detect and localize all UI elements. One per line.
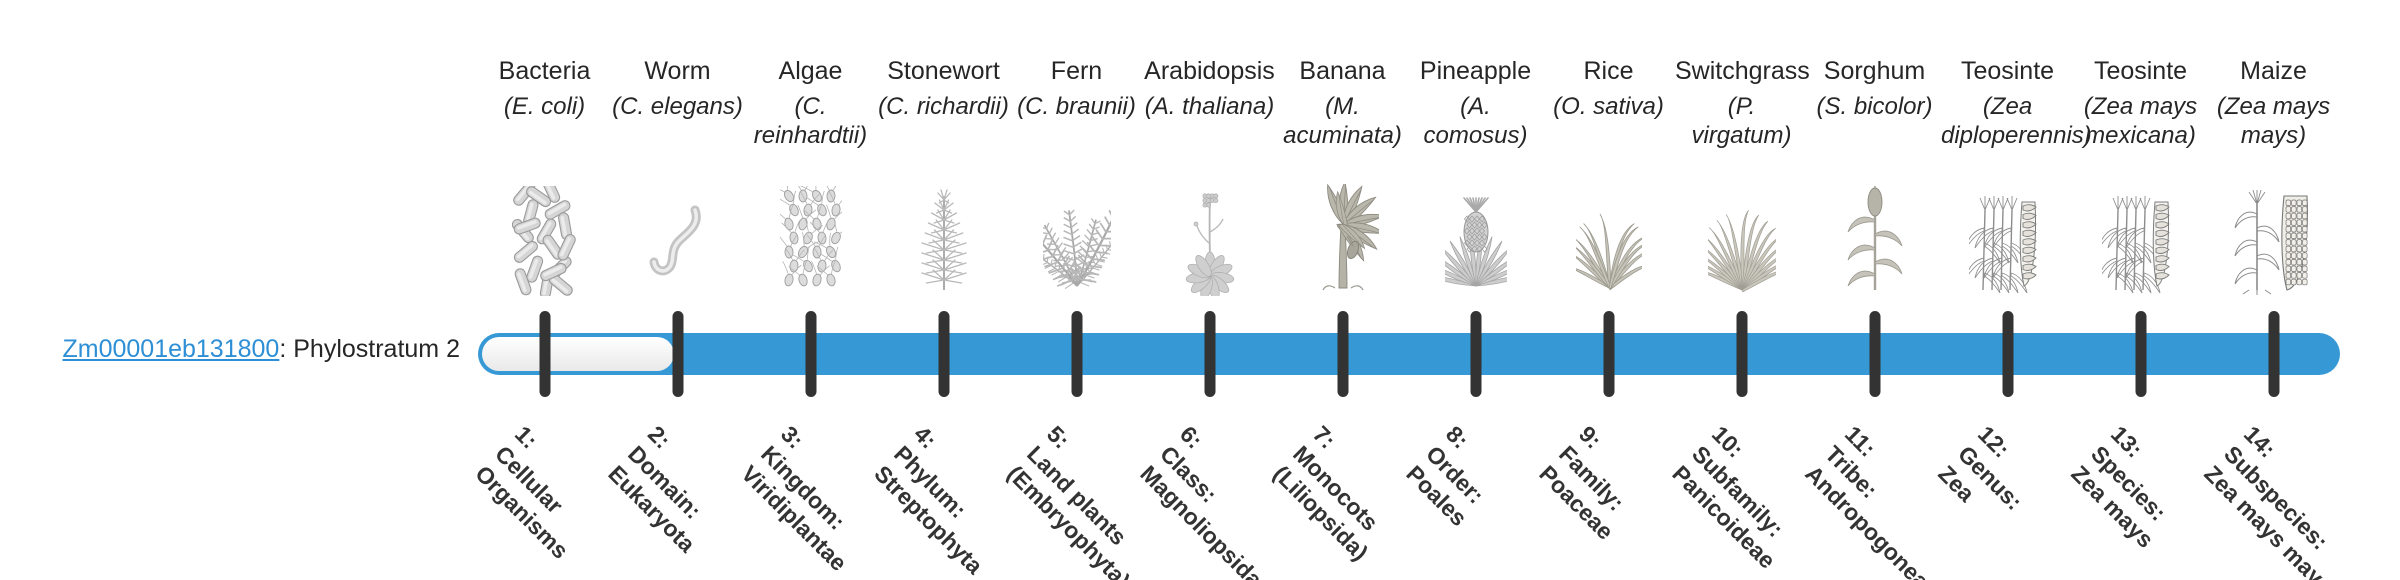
- organism-column: Stonewort(C. richardii): [877, 0, 1010, 310]
- organism-scientific-name: (Zea diploperennis): [1941, 92, 2074, 150]
- organism-scientific-name: (S. bicolor): [1808, 92, 1941, 121]
- phylostratum-tick[interactable]: [1869, 311, 1880, 397]
- phylostratum-tick[interactable]: [2135, 311, 2146, 397]
- organism-column: Pineapple(A. comosus): [1409, 0, 1542, 310]
- organism-illustration-pineapple: [1409, 186, 1542, 296]
- organism-common-name: Algae: [744, 56, 877, 86]
- phylostratum-tick[interactable]: [1470, 311, 1481, 397]
- phylostratum-tick[interactable]: [539, 311, 550, 397]
- phylostratum-tick[interactable]: [1337, 311, 1348, 397]
- phylostratum-tick[interactable]: [1204, 311, 1215, 397]
- organism-scientific-name: (C. reinhardtii): [744, 92, 877, 150]
- phylostratum-bar-track: [478, 333, 2340, 375]
- gene-id-link[interactable]: Zm00001eb131800: [62, 335, 279, 363]
- phylostratum-tick[interactable]: [2002, 311, 2013, 397]
- organism-common-name: Arabidopsis: [1143, 56, 1276, 86]
- organism-common-name: Maize: [2207, 56, 2340, 86]
- gene-label-separator: :: [279, 335, 293, 363]
- organism-illustration-banana: [1276, 186, 1409, 296]
- organism-common-name: Pineapple: [1409, 56, 1542, 86]
- organism-common-name: Teosinte: [2074, 56, 2207, 86]
- organism-illustration-rice: [1542, 186, 1675, 296]
- organism-column: Rice(O. sativa): [1542, 0, 1675, 310]
- organism-common-name: Worm: [611, 56, 744, 86]
- phylostratum-figure: Zm00001eb131800: Phylostratum 2 Bacteria…: [0, 0, 2400, 580]
- organism-common-name: Bacteria: [478, 56, 611, 86]
- organism-column: Switchgrass(P. virgatum): [1675, 0, 1808, 310]
- organism-common-name: Banana: [1276, 56, 1409, 86]
- organism-common-name: Stonewort: [877, 56, 1010, 86]
- organism-scientific-name: (Zea mays mexicana): [2074, 92, 2207, 150]
- organism-column: Bacteria(E. coli): [478, 0, 611, 310]
- phylostratum-tick[interactable]: [672, 311, 683, 397]
- organism-illustration-stonewort: [877, 186, 1010, 296]
- organism-scientific-name: (C. richardii): [877, 92, 1010, 121]
- phylostratum-tick[interactable]: [1071, 311, 1082, 397]
- organism-common-name: Teosinte: [1941, 56, 2074, 86]
- organism-scientific-name: (M. acuminata): [1276, 92, 1409, 150]
- phylostratum-bar[interactable]: [478, 333, 2340, 375]
- phylostratum-tick[interactable]: [2268, 311, 2279, 397]
- organism-column: Banana(M. acuminata): [1276, 0, 1409, 310]
- gene-phylostratum-label: Zm00001eb131800: Phylostratum 2: [40, 334, 460, 364]
- organism-column: Worm(C. elegans): [611, 0, 744, 310]
- organism-column: Fern(C. braunii): [1010, 0, 1143, 310]
- organism-illustration-switchgrass: [1675, 186, 1808, 296]
- organism-column: Arabidopsis(A. thaliana): [1143, 0, 1276, 310]
- organism-column: Teosinte(Zea mays mexicana): [2074, 0, 2207, 310]
- stratum-labels: 1:CellularOrganisms2:Domain:Eukaryota3:K…: [478, 420, 2340, 580]
- organism-column: Teosinte(Zea diploperennis): [1941, 0, 2074, 310]
- organism-illustration-bacteria: [478, 186, 611, 296]
- phylostratum-tick[interactable]: [1603, 311, 1614, 397]
- organism-column: Sorghum(S. bicolor): [1808, 0, 1941, 310]
- organism-columns: Bacteria(E. coli)Worm(C. elegans)Algae(C…: [478, 0, 2340, 310]
- phylostratum-tick[interactable]: [1736, 311, 1747, 397]
- organism-illustration-worm: [611, 186, 744, 296]
- organism-illustration-sorghum: [1808, 186, 1941, 296]
- organism-scientific-name: (P. virgatum): [1675, 92, 1808, 150]
- organism-illustration-teosinte: [1941, 186, 2074, 296]
- organism-column: Maize(Zea mays mays): [2207, 0, 2340, 310]
- organism-scientific-name: (E. coli): [478, 92, 611, 121]
- organism-common-name: Rice: [1542, 56, 1675, 86]
- organism-illustration-arabidopsis: [1143, 186, 1276, 296]
- organism-common-name: Fern: [1010, 56, 1143, 86]
- organism-illustration-teosinte: [2074, 186, 2207, 296]
- organism-scientific-name: (C. elegans): [611, 92, 744, 121]
- organism-scientific-name: (A. thaliana): [1143, 92, 1276, 121]
- organism-scientific-name: (O. sativa): [1542, 92, 1675, 121]
- organism-scientific-name: (Zea mays mays): [2207, 92, 2340, 150]
- organism-common-name: Switchgrass: [1675, 56, 1808, 86]
- organism-scientific-name: (A. comosus): [1409, 92, 1542, 150]
- organism-illustration-algae: [744, 186, 877, 296]
- phylostratum-value: Phylostratum 2: [293, 335, 460, 363]
- organism-illustration-fern: [1010, 186, 1143, 296]
- organism-common-name: Sorghum: [1808, 56, 1941, 86]
- organism-illustration-maize: [2207, 186, 2340, 296]
- organism-column: Algae(C. reinhardtii): [744, 0, 877, 310]
- phylostratum-tick[interactable]: [805, 311, 816, 397]
- organism-scientific-name: (C. braunii): [1010, 92, 1143, 121]
- phylostratum-bar-unfilled: [482, 337, 674, 371]
- phylostratum-tick[interactable]: [938, 311, 949, 397]
